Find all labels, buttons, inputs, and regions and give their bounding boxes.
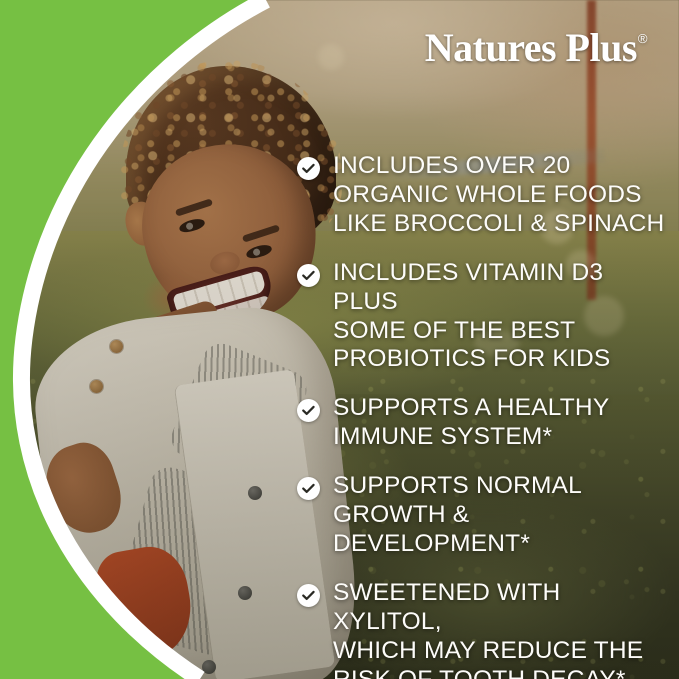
registered-trademark-icon: ® (638, 31, 647, 46)
benefit-item-organic-whole-foods: INCLUDES OVER 20 ORGANIC WHOLE FOODS LIK… (297, 152, 669, 239)
product-benefits-banner: Natures Plus® INCLUDES OVER 20 ORGANIC W… (0, 0, 679, 679)
benefit-text: INCLUDES VITAMIN D3 PLUS SOME OF THE BES… (333, 259, 669, 375)
check-circle-icon (297, 399, 320, 422)
brand-name: Natures Plus (425, 25, 637, 70)
benefit-item-immune-system: SUPPORTS A HEALTHY IMMUNE SYSTEM* (297, 394, 669, 452)
benefits-list: INCLUDES OVER 20 ORGANIC WHOLE FOODS LIK… (297, 152, 669, 679)
check-circle-icon (297, 584, 320, 607)
check-circle-icon (297, 477, 320, 500)
benefit-item-growth-development: SUPPORTS NORMAL GROWTH & DEVELOPMENT* (297, 472, 669, 559)
benefit-item-xylitol-tooth-decay: SWEETENED WITH XYLITOL, WHICH MAY REDUCE… (297, 579, 669, 679)
benefit-item-vitamin-d3-probiotics: INCLUDES VITAMIN D3 PLUS SOME OF THE BES… (297, 259, 669, 375)
check-circle-icon (297, 264, 320, 287)
check-circle-icon (297, 157, 320, 180)
benefit-text: INCLUDES OVER 20 ORGANIC WHOLE FOODS LIK… (333, 152, 664, 239)
brand-logo: Natures Plus® (425, 28, 647, 68)
benefit-text: SUPPORTS NORMAL GROWTH & DEVELOPMENT* (333, 472, 669, 559)
benefit-text: SUPPORTS A HEALTHY IMMUNE SYSTEM* (333, 394, 609, 452)
benefit-text: SWEETENED WITH XYLITOL, WHICH MAY REDUCE… (333, 579, 669, 679)
